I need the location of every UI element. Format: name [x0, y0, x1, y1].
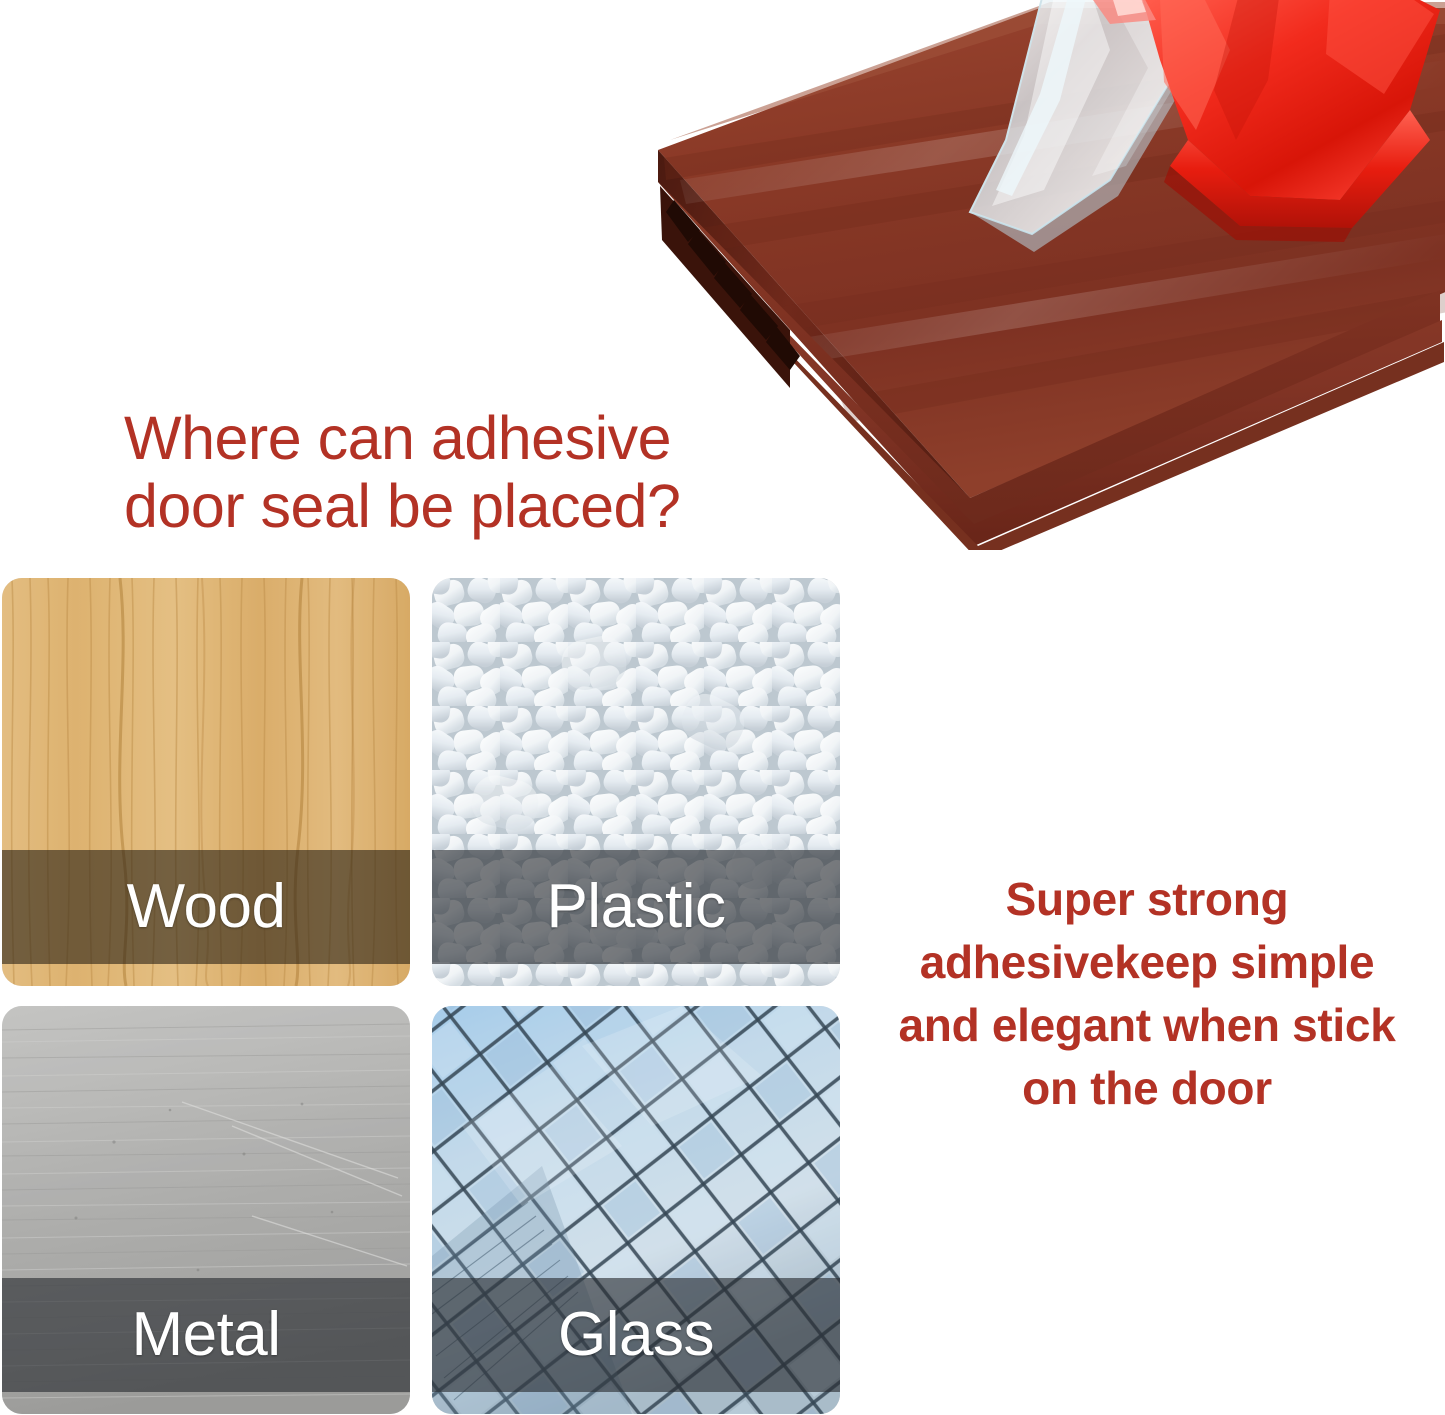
material-tile-metal[interactable]: Metal: [2, 1006, 410, 1414]
material-tile-wood[interactable]: Wood: [2, 578, 410, 986]
material-label-wood: Wood: [127, 876, 286, 938]
material-tile-glass[interactable]: Glass: [432, 1006, 840, 1414]
promo-text: Super strong adhesivekeep simple and ele…: [855, 868, 1439, 1120]
metal-caption-band: Metal: [2, 1278, 410, 1392]
material-label-metal: Metal: [131, 1304, 280, 1366]
material-label-glass: Glass: [558, 1304, 714, 1366]
page-title: Where can adhesive door seal be placed?: [124, 404, 824, 540]
plastic-caption-band: Plastic: [432, 850, 840, 964]
material-tile-plastic[interactable]: Plastic: [432, 578, 840, 986]
wood-caption-band: Wood: [2, 850, 410, 964]
material-tile-grid: Wood: [2, 578, 842, 1414]
glass-caption-band: Glass: [432, 1278, 840, 1392]
material-label-plastic: Plastic: [546, 876, 725, 938]
